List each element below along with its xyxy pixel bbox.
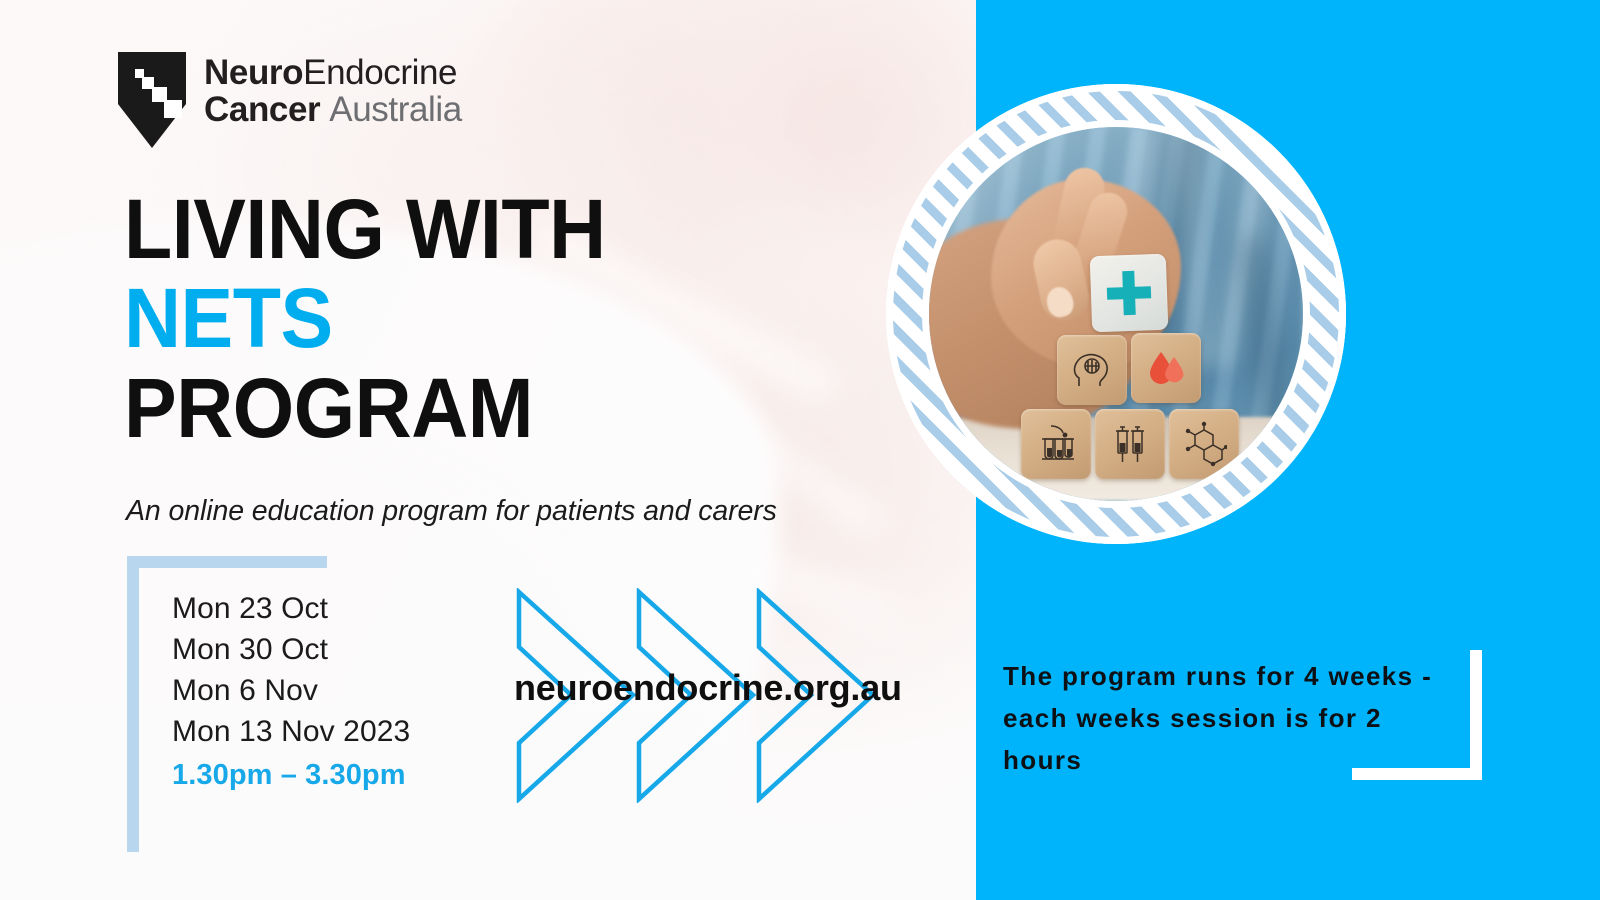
organisation-logo[interactable]: NeuroEndocrine CancerAustralia	[118, 52, 462, 148]
schedule-list: Mon 23 Oct Mon 30 Oct Mon 6 Nov Mon 13 N…	[172, 588, 410, 796]
block-medical-cross	[1090, 254, 1169, 333]
website-url[interactable]: neuroendocrine.org.au	[514, 667, 902, 709]
medallion	[886, 84, 1346, 544]
logo-line-1: NeuroEndocrine	[204, 54, 462, 91]
block-molecule	[1169, 409, 1239, 479]
medallion-photo	[929, 127, 1303, 501]
molecule-icon	[1181, 421, 1227, 467]
page-subtitle: An online education program for patients…	[126, 495, 777, 528]
headline-line-3: PROGRAM	[124, 367, 606, 449]
blood-drops-icon	[1143, 345, 1189, 391]
note-bracket-bottom-bar	[1352, 768, 1482, 780]
logo-endocrine-text: Endocrine	[303, 53, 457, 92]
headline-line-2-nets: NETS	[124, 277, 606, 359]
logo-neuro-text: Neuro	[204, 53, 303, 92]
schedule-date-3: Mon 6 Nov	[172, 670, 410, 711]
program-duration-note: The program runs for 4 weeks - each week…	[1003, 655, 1458, 781]
schedule-time: 1.30pm – 3.30pm	[172, 755, 410, 796]
syringes-icon	[1107, 421, 1153, 467]
block-blood-drops	[1131, 333, 1201, 403]
note-bracket-right-bar	[1470, 650, 1482, 780]
logo-australia-text: Australia	[329, 90, 462, 129]
schedule-date-1: Mon 23 Oct	[172, 588, 410, 629]
schedule-date-2: Mon 30 Oct	[172, 629, 410, 670]
poster-canvas: NeuroEndocrine CancerAustralia LIVING WI…	[0, 0, 1600, 900]
brain-head-icon	[1069, 347, 1115, 393]
logo-line-2: CancerAustralia	[204, 91, 462, 129]
medical-cross-icon	[1103, 267, 1155, 319]
headline-line-1: LIVING WITH	[124, 188, 606, 270]
logo-wordmark: NeuroEndocrine CancerAustralia	[204, 52, 462, 129]
date-bracket-top-bar	[127, 556, 327, 568]
block-brain-head	[1057, 335, 1127, 405]
block-test-tubes	[1021, 409, 1091, 479]
block-syringes	[1095, 409, 1165, 479]
test-tubes-dropper-icon	[1033, 421, 1079, 467]
shield-staircase-logo-icon	[118, 52, 186, 148]
page-title: LIVING WITH NETS PROGRAM	[124, 188, 636, 456]
date-bracket-left-bar	[127, 556, 139, 852]
schedule-date-4: Mon 13 Nov 2023	[172, 711, 410, 752]
logo-cancer-text: Cancer	[204, 90, 320, 129]
